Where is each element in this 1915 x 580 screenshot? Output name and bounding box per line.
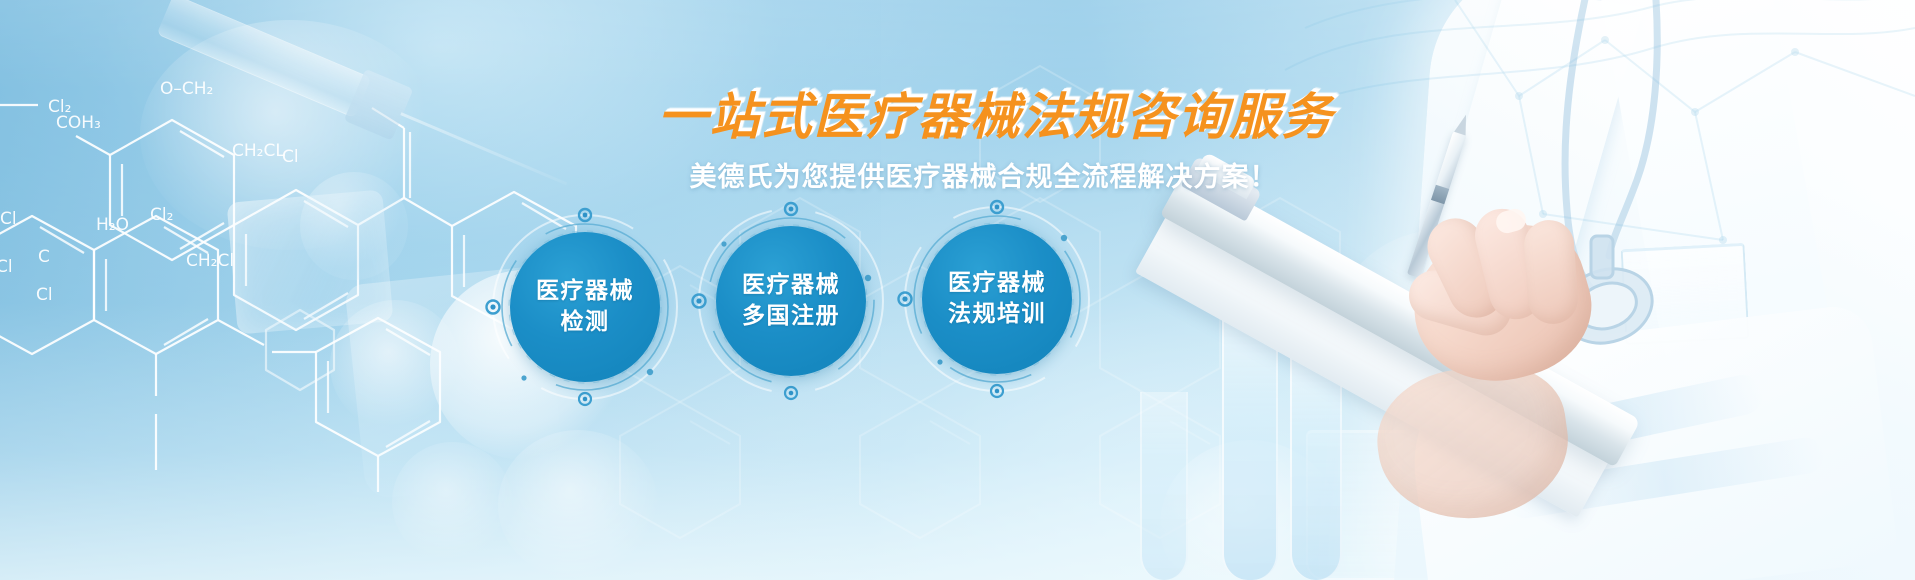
badge-circle-3[interactable]: 医疗器械 法规培训 [922,224,1072,374]
banner-headline: 一站式医疗器械法规咨询服务 [38,92,1915,142]
badge-circle-1[interactable]: 医疗器械 检测 [510,232,660,382]
badge-3-line-2: 法规培训 [948,299,1046,330]
badge-2-line-1: 医疗器械 [742,270,840,301]
service-badge-training[interactable]: 医疗器械 法规培训 [922,224,1072,374]
banner-subtitle: 美德氏为您提供医疗器械合规全流程解决方案！ [26,160,1915,195]
badge-1-line-1: 医疗器械 [536,276,634,307]
banner-content: 一站式医疗器械法规咨询服务 美德氏为您提供医疗器械合规全流程解决方案！ [0,0,1915,580]
badge-circle-2[interactable]: 医疗器械 多国注册 [716,226,866,376]
badge-2-line-2: 多国注册 [742,301,840,332]
badge-3-line-1: 医疗器械 [948,268,1046,299]
service-badge-inspection[interactable]: 医疗器械 检测 [510,232,660,382]
banner-root: Cl₂ COH₃ O–CH₂ CH₂CL H₂O Cl Cl₂ C Cl CH₂… [0,0,1915,580]
service-badge-group: 医疗器械 检测 [510,224,1072,382]
service-badge-registration[interactable]: 医疗器械 多国注册 [716,226,866,376]
badge-1-line-2: 检测 [561,307,610,338]
